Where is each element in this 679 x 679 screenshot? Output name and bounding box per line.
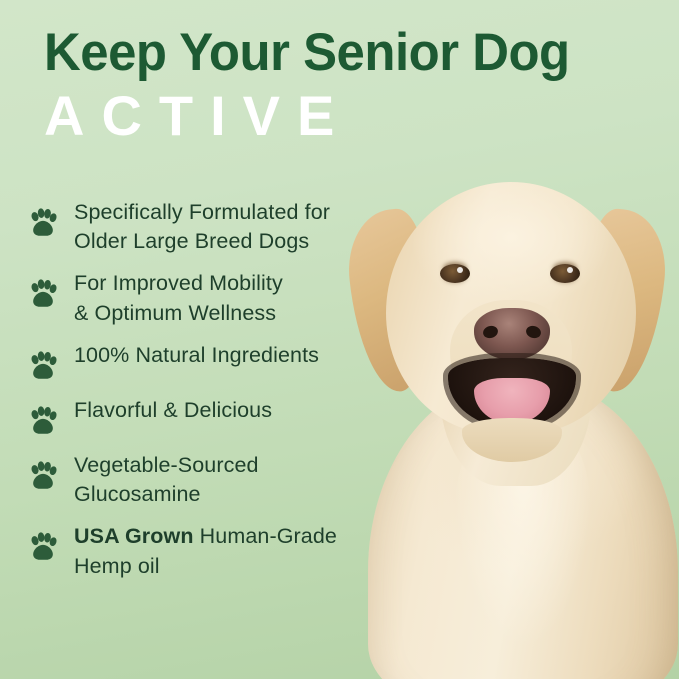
- list-item: USA Grown Human-Grade Hemp oil: [26, 522, 426, 580]
- product-feature-poster: Keep Your Senior Dog ACTIVE Specifically…: [0, 0, 679, 679]
- list-item-label: For Improved Mobility & Optimum Wellness: [74, 269, 283, 327]
- paw-print-icon: [26, 349, 60, 383]
- list-item-label: Vegetable-Sourced Glucosamine: [74, 451, 259, 509]
- dog-eye-left: [440, 264, 470, 283]
- feature-list: Specifically Formulated for Older Large …: [26, 198, 426, 594]
- list-item-label: 100% Natural Ingredients: [74, 341, 319, 370]
- list-item-label: Flavorful & Delicious: [74, 396, 272, 425]
- list-item-label: USA Grown Human-Grade Hemp oil: [74, 522, 337, 580]
- list-item: Flavorful & Delicious: [26, 396, 426, 438]
- paw-print-icon: [26, 206, 60, 240]
- list-item-label: Specifically Formulated for Older Large …: [74, 198, 330, 256]
- page-title: Keep Your Senior Dog: [44, 26, 630, 79]
- paw-print-icon: [26, 459, 60, 493]
- emphasis-word: ACTIVE: [44, 88, 351, 144]
- paw-print-icon: [26, 277, 60, 311]
- list-item-bold-prefix: USA Grown: [74, 524, 194, 548]
- list-item: Vegetable-Sourced Glucosamine: [26, 451, 426, 509]
- paw-print-icon: [26, 530, 60, 564]
- list-item: 100% Natural Ingredients: [26, 341, 426, 383]
- list-item: Specifically Formulated for Older Large …: [26, 198, 426, 256]
- list-item: For Improved Mobility & Optimum Wellness: [26, 269, 426, 327]
- dog-eye-right: [550, 264, 580, 283]
- paw-print-icon: [26, 404, 60, 438]
